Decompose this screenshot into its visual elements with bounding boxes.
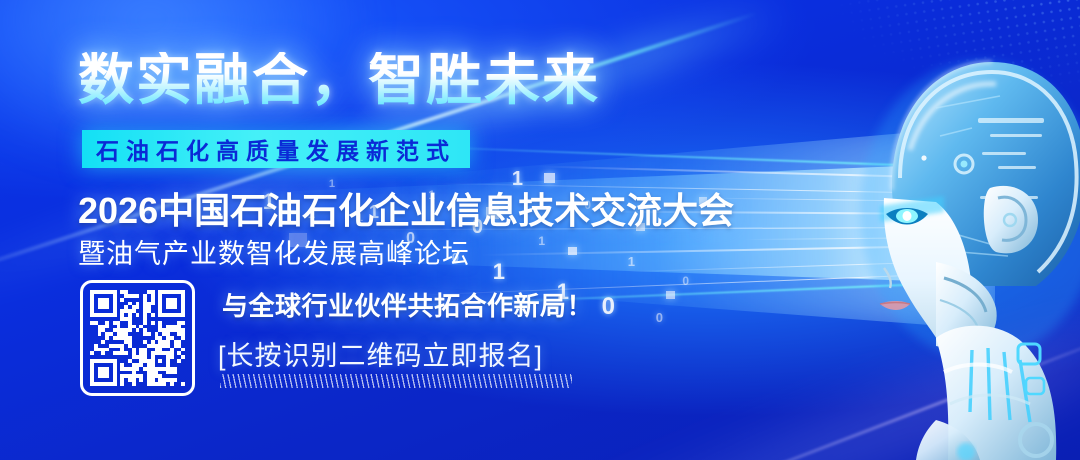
cta-instruction: [长按识别二维码立即报名] [218,334,543,373]
forum-subtitle: 暨油气产业数智化发展高峰论坛 [78,232,470,271]
conference-banner: 1 1 1 1 1 0 1 0 0 1 1 1 1 0 0 1 0 0 [0,0,1080,460]
page-title: 数实融合，智胜未来 [78,52,600,108]
qr-code[interactable] [80,280,195,396]
subtitle-badge-label: 石油石化高质量发展新范式 [96,132,456,166]
qr-code-grid [90,290,185,386]
subtitle-badge: 石油石化高质量发展新范式 [82,130,470,168]
robot-head-illustration [840,0,1080,460]
banner-content: 数实融合，智胜未来 石油石化高质量发展新范式 2026中国石油石化企业信息技术交… [0,0,720,460]
cta-headline: 与全球行业伙伴共拓合作新局！ [222,286,593,323]
conference-title: 2026中国石油石化企业信息技术交流大会 [78,182,734,234]
hatch-marks-divider [220,374,572,388]
